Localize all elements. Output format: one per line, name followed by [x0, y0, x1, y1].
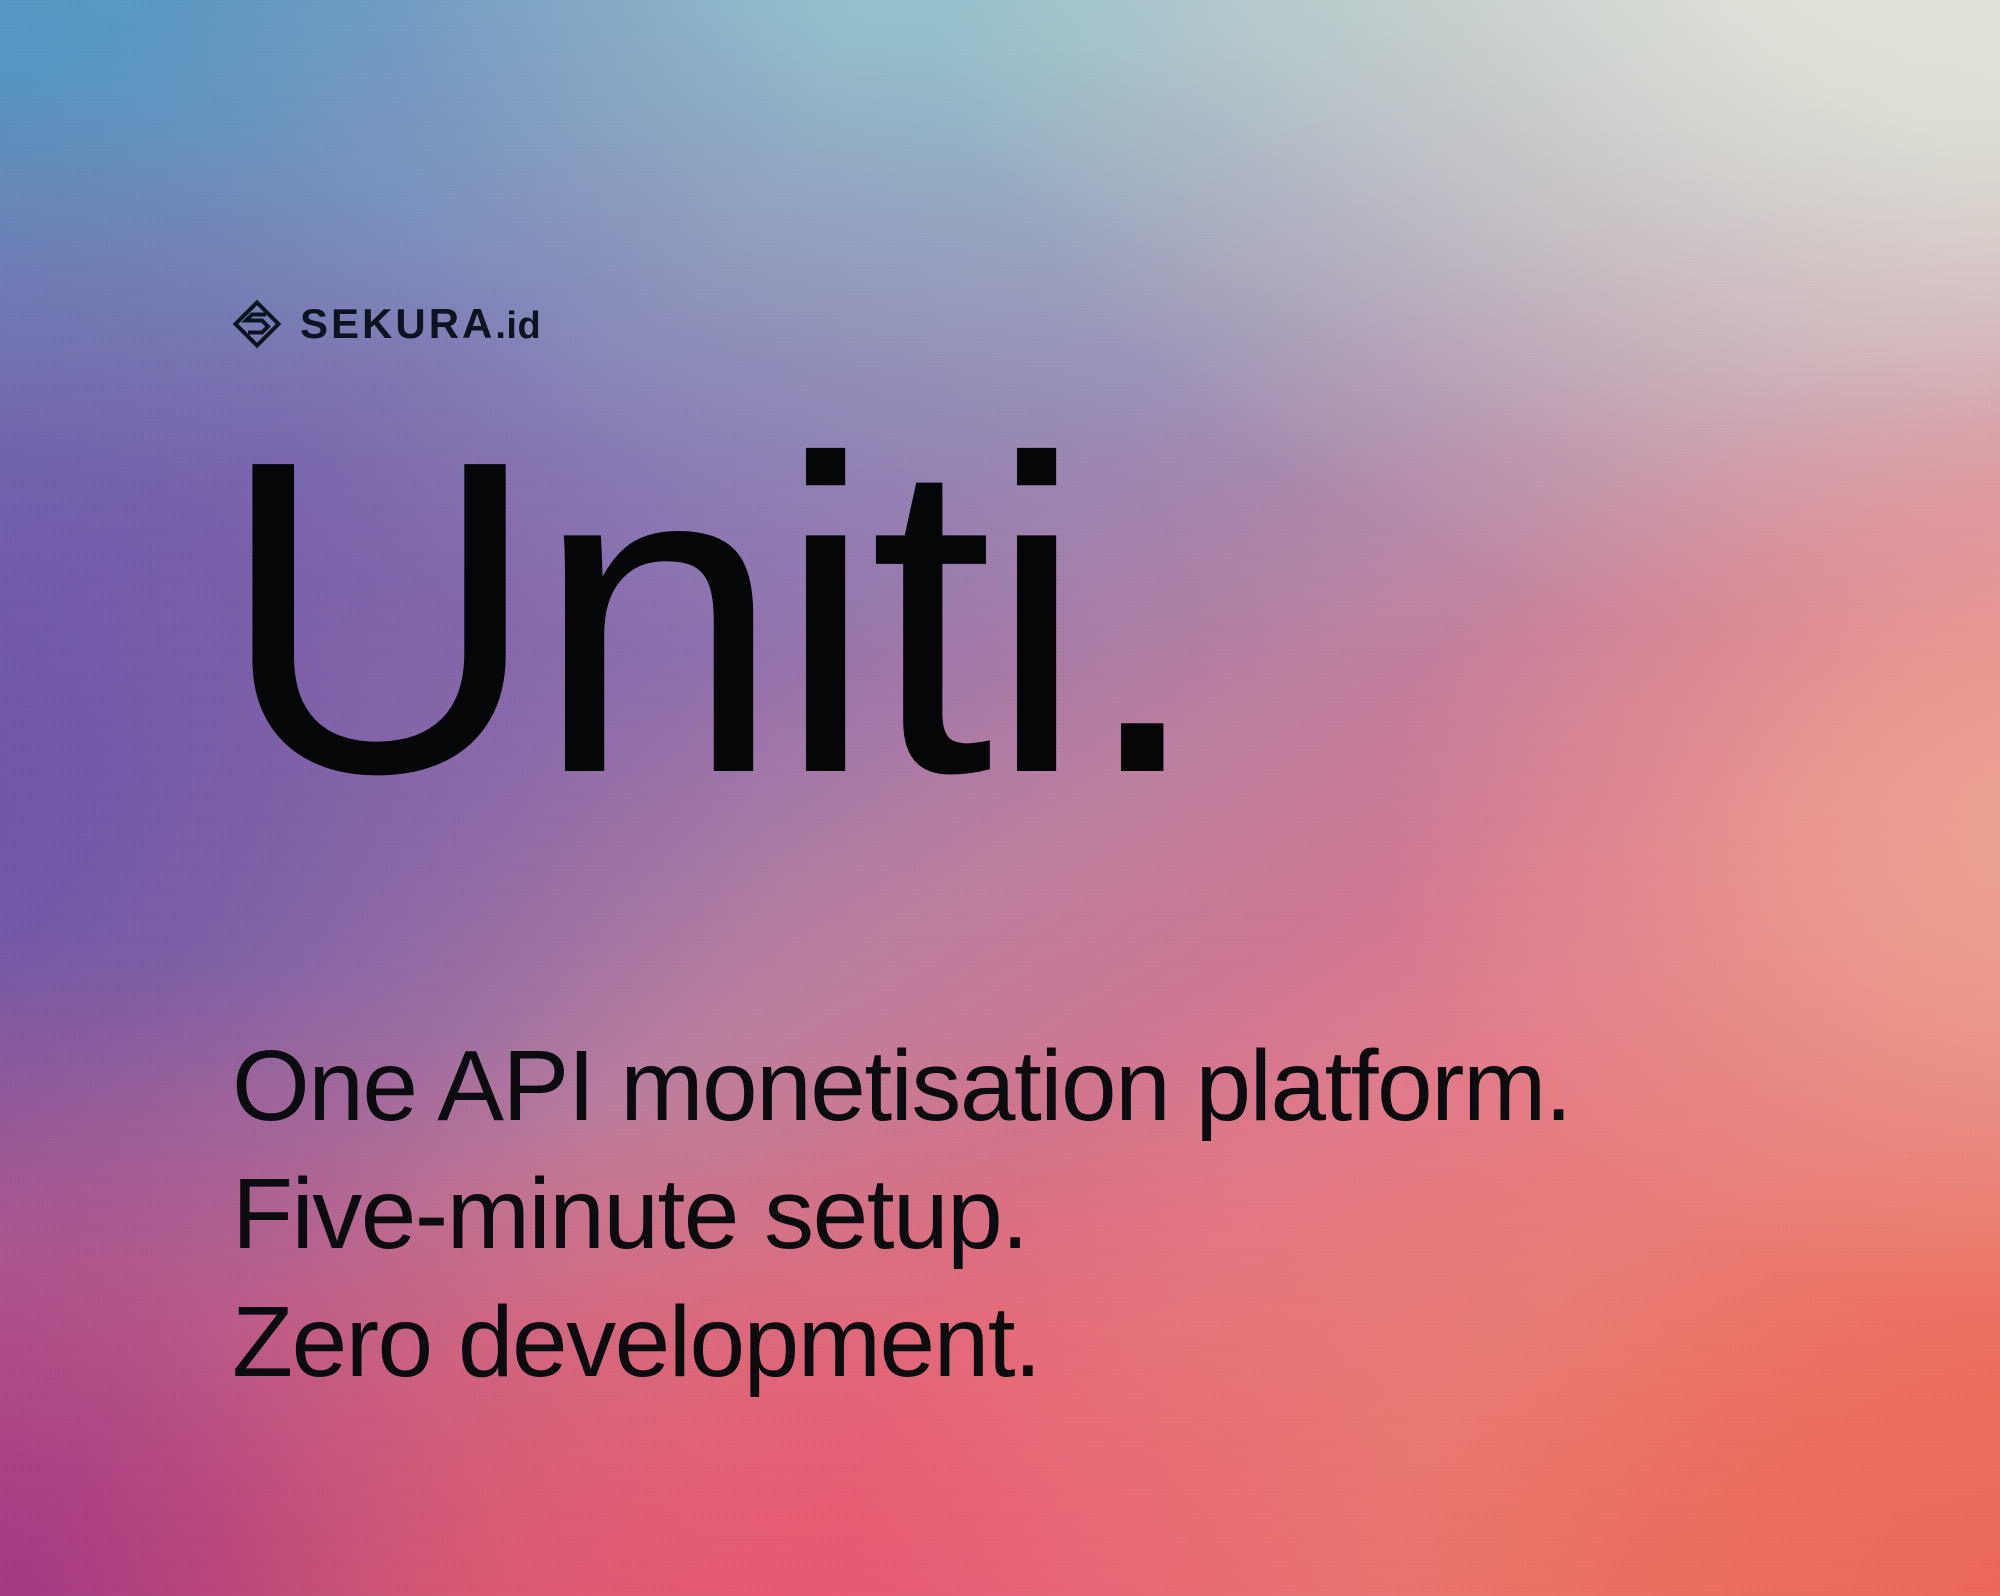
hero-headline: Uniti.: [218, 398, 1198, 835]
hero-graphic-canvas: SEKURA.id Uniti. One API monetisation pl…: [0, 0, 2000, 1596]
sekura-diamond-s-mark-icon: [232, 299, 282, 349]
tagline-line-3: Zero development.: [232, 1278, 1571, 1406]
tagline-block: One API monetisation platform. Five-minu…: [232, 1022, 1571, 1406]
brand-name: SEKURA.id: [300, 303, 541, 345]
brand-name-primary: SEKURA: [300, 303, 495, 345]
brand-name-suffix: .id: [495, 307, 541, 345]
content-stack: SEKURA.id Uniti. One API monetisation pl…: [232, 0, 1872, 1596]
tagline-line-2: Five-minute setup.: [232, 1150, 1571, 1278]
tagline-line-1: One API monetisation platform.: [232, 1022, 1571, 1150]
brand-lockup: SEKURA.id: [232, 296, 541, 352]
